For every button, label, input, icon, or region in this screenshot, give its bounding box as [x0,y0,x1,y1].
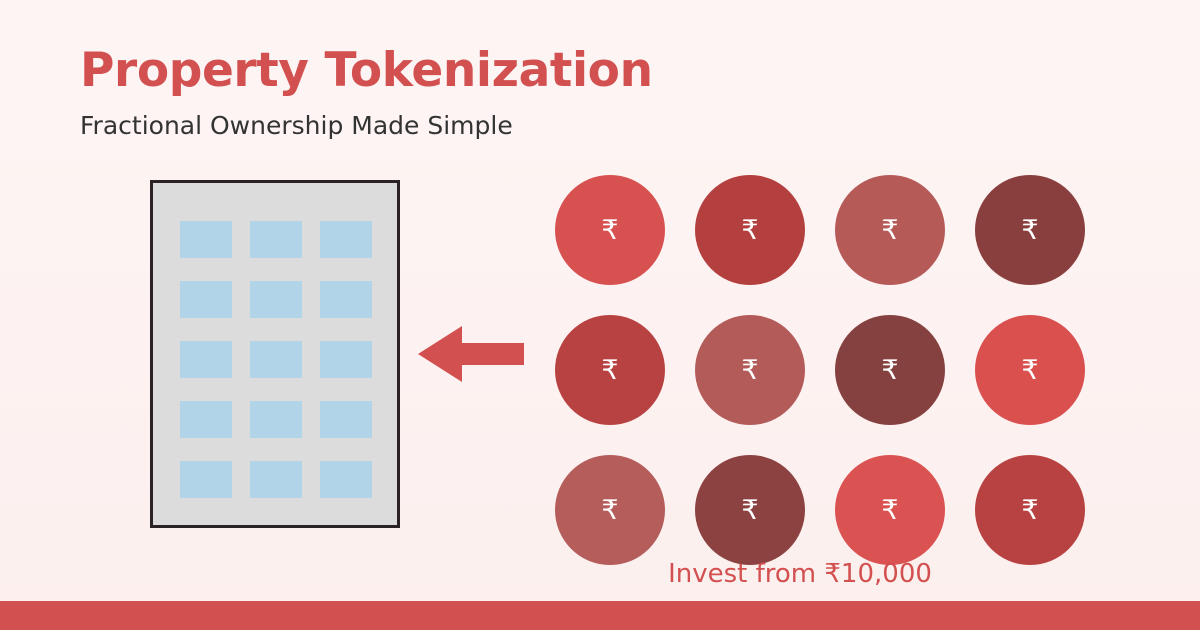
token-circle: ₹ [695,455,805,565]
token-grid: ₹₹₹₹₹₹₹₹₹₹₹₹ [555,175,1085,565]
building-window [320,341,372,378]
flow-arrow-left-icon [418,326,524,382]
rupee-icon: ₹ [881,357,898,384]
rupee-icon: ₹ [601,217,618,244]
building-window [250,221,302,258]
rupee-icon: ₹ [741,217,758,244]
property-building-illustration [150,180,400,528]
poster-canvas: Property Tokenization Fractional Ownersh… [0,0,1200,630]
rupee-icon: ₹ [601,497,618,524]
building-window-grid [180,221,372,498]
building-window [180,341,232,378]
token-circle: ₹ [835,455,945,565]
page-subtitle: Fractional Ownership Made Simple [80,111,513,141]
token-circle: ₹ [555,175,665,285]
rupee-icon: ₹ [1021,497,1038,524]
building-window [180,461,232,498]
building-window [250,461,302,498]
rupee-icon: ₹ [1021,357,1038,384]
building-window [320,461,372,498]
building-window [250,281,302,318]
rupee-icon: ₹ [741,497,758,524]
token-circle: ₹ [695,315,805,425]
token-circle: ₹ [975,315,1085,425]
building-window [180,401,232,438]
building-window [180,281,232,318]
building-window [320,401,372,438]
token-circle: ₹ [835,315,945,425]
token-circle: ₹ [695,175,805,285]
token-circle: ₹ [835,175,945,285]
building-window [320,221,372,258]
rupee-icon: ₹ [881,497,898,524]
investment-caption: Invest from ₹10,000 [0,559,1200,589]
token-circle: ₹ [555,315,665,425]
rupee-icon: ₹ [601,357,618,384]
building-window [320,281,372,318]
token-circle: ₹ [975,175,1085,285]
building-window [250,401,302,438]
building-window [250,341,302,378]
token-circle: ₹ [555,455,665,565]
rupee-icon: ₹ [881,217,898,244]
page-title: Property Tokenization [80,46,653,97]
footer-accent-bar [0,601,1200,630]
rupee-icon: ₹ [741,357,758,384]
rupee-icon: ₹ [1021,217,1038,244]
token-circle: ₹ [975,455,1085,565]
building-window [180,221,232,258]
